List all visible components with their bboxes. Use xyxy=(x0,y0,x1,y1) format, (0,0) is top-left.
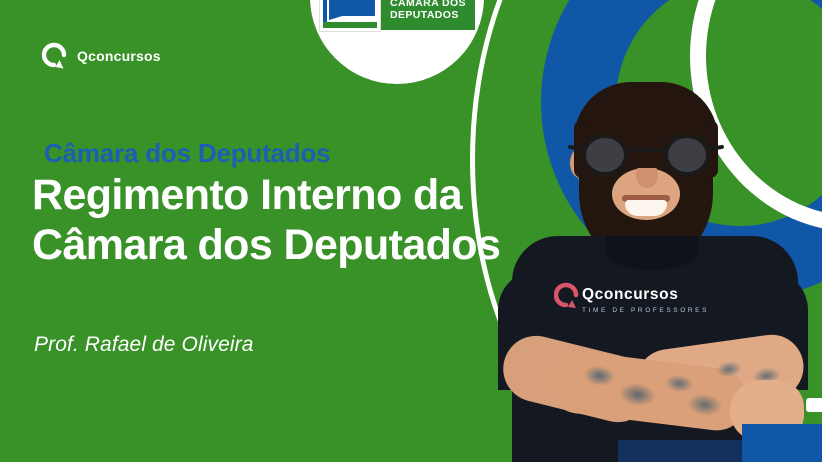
tshirt-logo: Qconcursos TIME DE PROFESSORES xyxy=(582,286,752,314)
smile xyxy=(625,200,667,216)
instructor-photo: Qconcursos TIME DE PROFESSORES xyxy=(478,60,822,462)
course-cover-slide: CÂMARA DOS DEPUTADOS xyxy=(0,0,822,462)
white-corner-accent xyxy=(806,398,822,412)
q-logo-icon xyxy=(42,42,68,70)
camara-flag-icon xyxy=(319,0,381,32)
camara-logo-text: CÂMARA DOS DEPUTADOS xyxy=(381,0,475,30)
eyeglasses xyxy=(578,134,714,176)
instructor-name: Prof. Rafael de Oliveira xyxy=(34,333,254,357)
qconcursos-brand-text: Qconcursos xyxy=(77,48,161,64)
course-subject-label: Câmara dos Deputados xyxy=(44,138,330,169)
dark-blue-bottom-shape xyxy=(618,440,748,462)
camara-logo-circle: CÂMARA DOS DEPUTADOS xyxy=(310,0,484,84)
tshirt-tagline-text: TIME DE PROFESSORES xyxy=(582,307,752,314)
q-logo-icon xyxy=(554,282,580,310)
tshirt-brand-text: Qconcursos xyxy=(582,286,752,304)
camara-dos-deputados-logo: CÂMARA DOS DEPUTADOS xyxy=(319,0,475,30)
qconcursos-brand[interactable]: Qconcursos xyxy=(42,42,161,70)
blue-bottom-right-shape xyxy=(742,424,822,462)
course-title: Regimento Interno da Câmara dos Deputado… xyxy=(32,170,502,270)
